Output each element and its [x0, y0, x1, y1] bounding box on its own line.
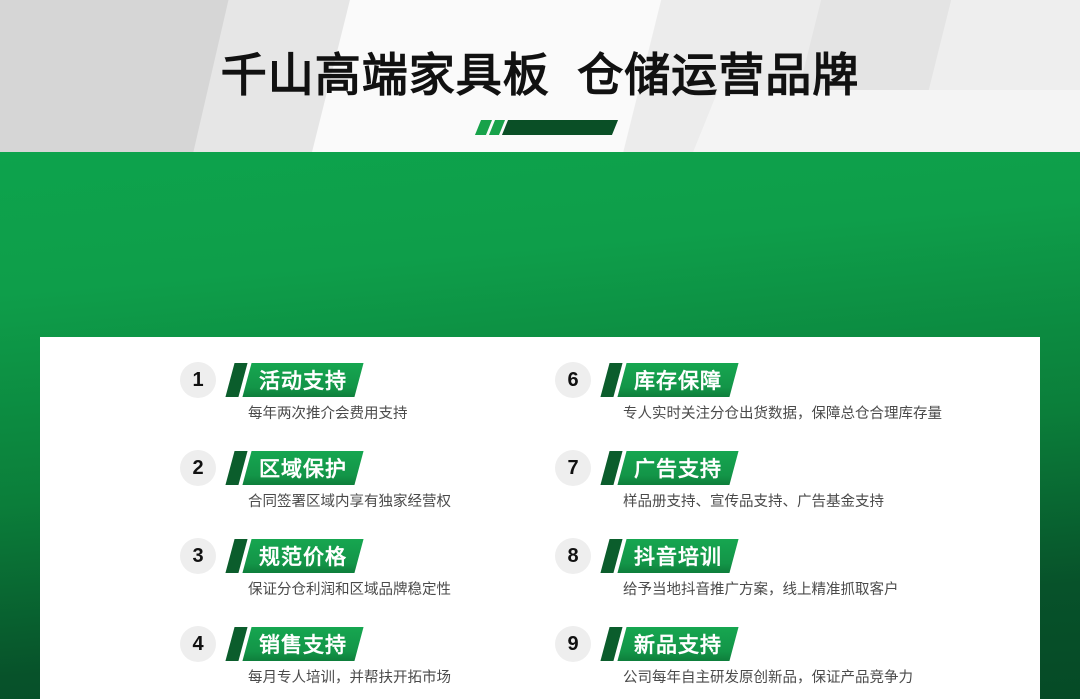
accent-segment-3: [502, 120, 618, 135]
benefit-number-badge: 4: [180, 626, 216, 662]
benefit-item-header: 6库存保障: [555, 362, 1055, 400]
benefit-description: 样品册支持、宣传品支持、广告基金支持: [623, 494, 1055, 511]
benefit-title-text: 销售支持: [247, 627, 359, 661]
benefit-number-badge: 2: [180, 450, 216, 486]
benefit-title-text: 规范价格: [247, 539, 359, 573]
poster-page: 千山高端家具板 仓储运营品牌 1活动支持每年两次推介会费用支持2区域保护合同签署…: [0, 0, 1080, 699]
title-accent-bar: [478, 120, 618, 135]
benefit-title-text: 活动支持: [247, 363, 359, 397]
benefit-title-text: 广告支持: [622, 451, 734, 485]
benefit-item: 9新品支持公司每年自主研发原创新品，保证产品竞争力: [555, 626, 1055, 687]
benefit-description: 公司每年自主研发原创新品，保证产品竞争力: [623, 670, 1055, 687]
benefit-number-badge: 3: [180, 538, 216, 574]
benefit-number-badge: 6: [555, 362, 591, 398]
benefit-description: 专人实时关注分仓出货数据，保障总仓合理库存量: [623, 406, 1055, 423]
benefit-item-header: 9新品支持: [555, 626, 1055, 664]
benefit-item-header: 7广告支持: [555, 450, 1055, 488]
benefit-item: 8抖音培训给予当地抖音推广方案，线上精准抓取客户: [555, 538, 1055, 599]
benefit-title-text: 新品支持: [622, 627, 734, 661]
benefit-item: 7广告支持样品册支持、宣传品支持、广告基金支持: [555, 450, 1055, 511]
benefit-title-text: 库存保障: [622, 363, 734, 397]
benefit-description: 给予当地抖音推广方案，线上精准抓取客户: [623, 582, 1055, 599]
benefit-item: 6库存保障专人实时关注分仓出货数据，保障总仓合理库存量: [555, 362, 1055, 423]
benefit-item-header: 8抖音培训: [555, 538, 1055, 576]
green-frame: 1活动支持每年两次推介会费用支持2区域保护合同签署区域内享有独家经营权3规范价格…: [0, 152, 1080, 699]
benefit-number-badge: 1: [180, 362, 216, 398]
benefit-title-text: 区域保护: [247, 451, 359, 485]
benefit-number-badge: 8: [555, 538, 591, 574]
benefit-number-badge: 7: [555, 450, 591, 486]
benefit-title-text: 抖音培训: [622, 539, 734, 573]
header-banner: 千山高端家具板 仓储运营品牌: [0, 0, 1080, 152]
benefit-number-badge: 9: [555, 626, 591, 662]
page-title: 千山高端家具板 仓储运营品牌: [0, 39, 1080, 105]
content-card: 1活动支持每年两次推介会费用支持2区域保护合同签署区域内享有独家经营权3规范价格…: [40, 337, 1040, 699]
